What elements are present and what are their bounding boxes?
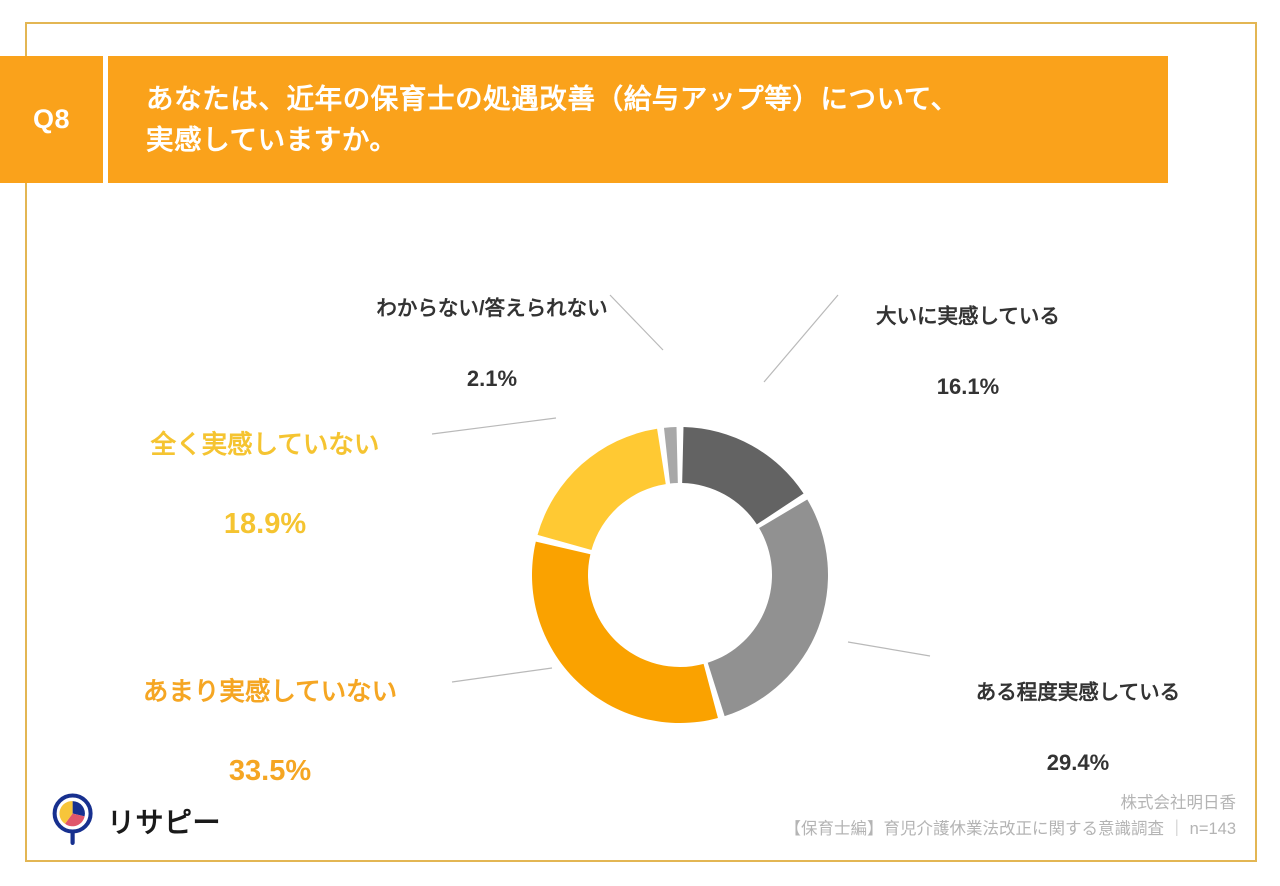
donut-slice xyxy=(532,542,718,723)
question-number-badge: Q8 xyxy=(0,56,103,183)
footer-credit: 株式会社明日香 【保育士編】育児介護休業法改正に関する意識調査 ｜ n=143 xyxy=(784,791,1236,842)
callout-label: 全く実感していない xyxy=(85,429,445,463)
brand-logo: リサピー xyxy=(50,793,221,848)
donut-slice xyxy=(708,499,828,716)
callout-value: 29.4% xyxy=(928,748,1228,777)
donut-chart-area: わからない/答えられない 2.1% 大いに実感している 16.1% ある程度実感… xyxy=(0,190,1280,800)
callout-label: わからない/答えられない xyxy=(327,295,657,322)
callout-label: あまり実感していない xyxy=(75,676,465,710)
donut-slice xyxy=(664,427,678,483)
callout-value: 18.9% xyxy=(85,505,445,544)
callout-mattaku-jikkan-shiteinai: 全く実感していない 18.9% xyxy=(85,386,445,586)
brand-logo-text: リサピー xyxy=(107,801,221,841)
question-header: Q8 あなたは、近年の保育士の処遇改善（給与アップ等）について、 実感しています… xyxy=(0,56,1168,183)
donut-slice xyxy=(538,429,666,550)
question-title-box: あなたは、近年の保育士の処遇改善（給与アップ等）について、 実感していますか。 xyxy=(108,56,1168,183)
callout-value: 33.5% xyxy=(75,752,465,791)
magnifier-pie-chart-icon xyxy=(50,793,96,848)
question-title-text: あなたは、近年の保育士の処遇改善（給与アップ等）について、 実感していますか。 xyxy=(146,79,959,160)
question-number-label: Q8 xyxy=(33,104,70,135)
footer-company-name: 株式会社明日香 xyxy=(784,791,1236,817)
callout-label: 大いに実感している xyxy=(818,303,1118,330)
callout-label: ある程度実感している xyxy=(928,679,1228,706)
callout-value: 16.1% xyxy=(818,372,1118,401)
footer-survey-name: 【保育士編】育児介護休業法改正に関する意識調査 ｜ n=143 xyxy=(784,817,1236,843)
donut-slice xyxy=(682,427,803,524)
callout-ooini-jikkan: 大いに実感している 16.1% xyxy=(818,260,1118,444)
